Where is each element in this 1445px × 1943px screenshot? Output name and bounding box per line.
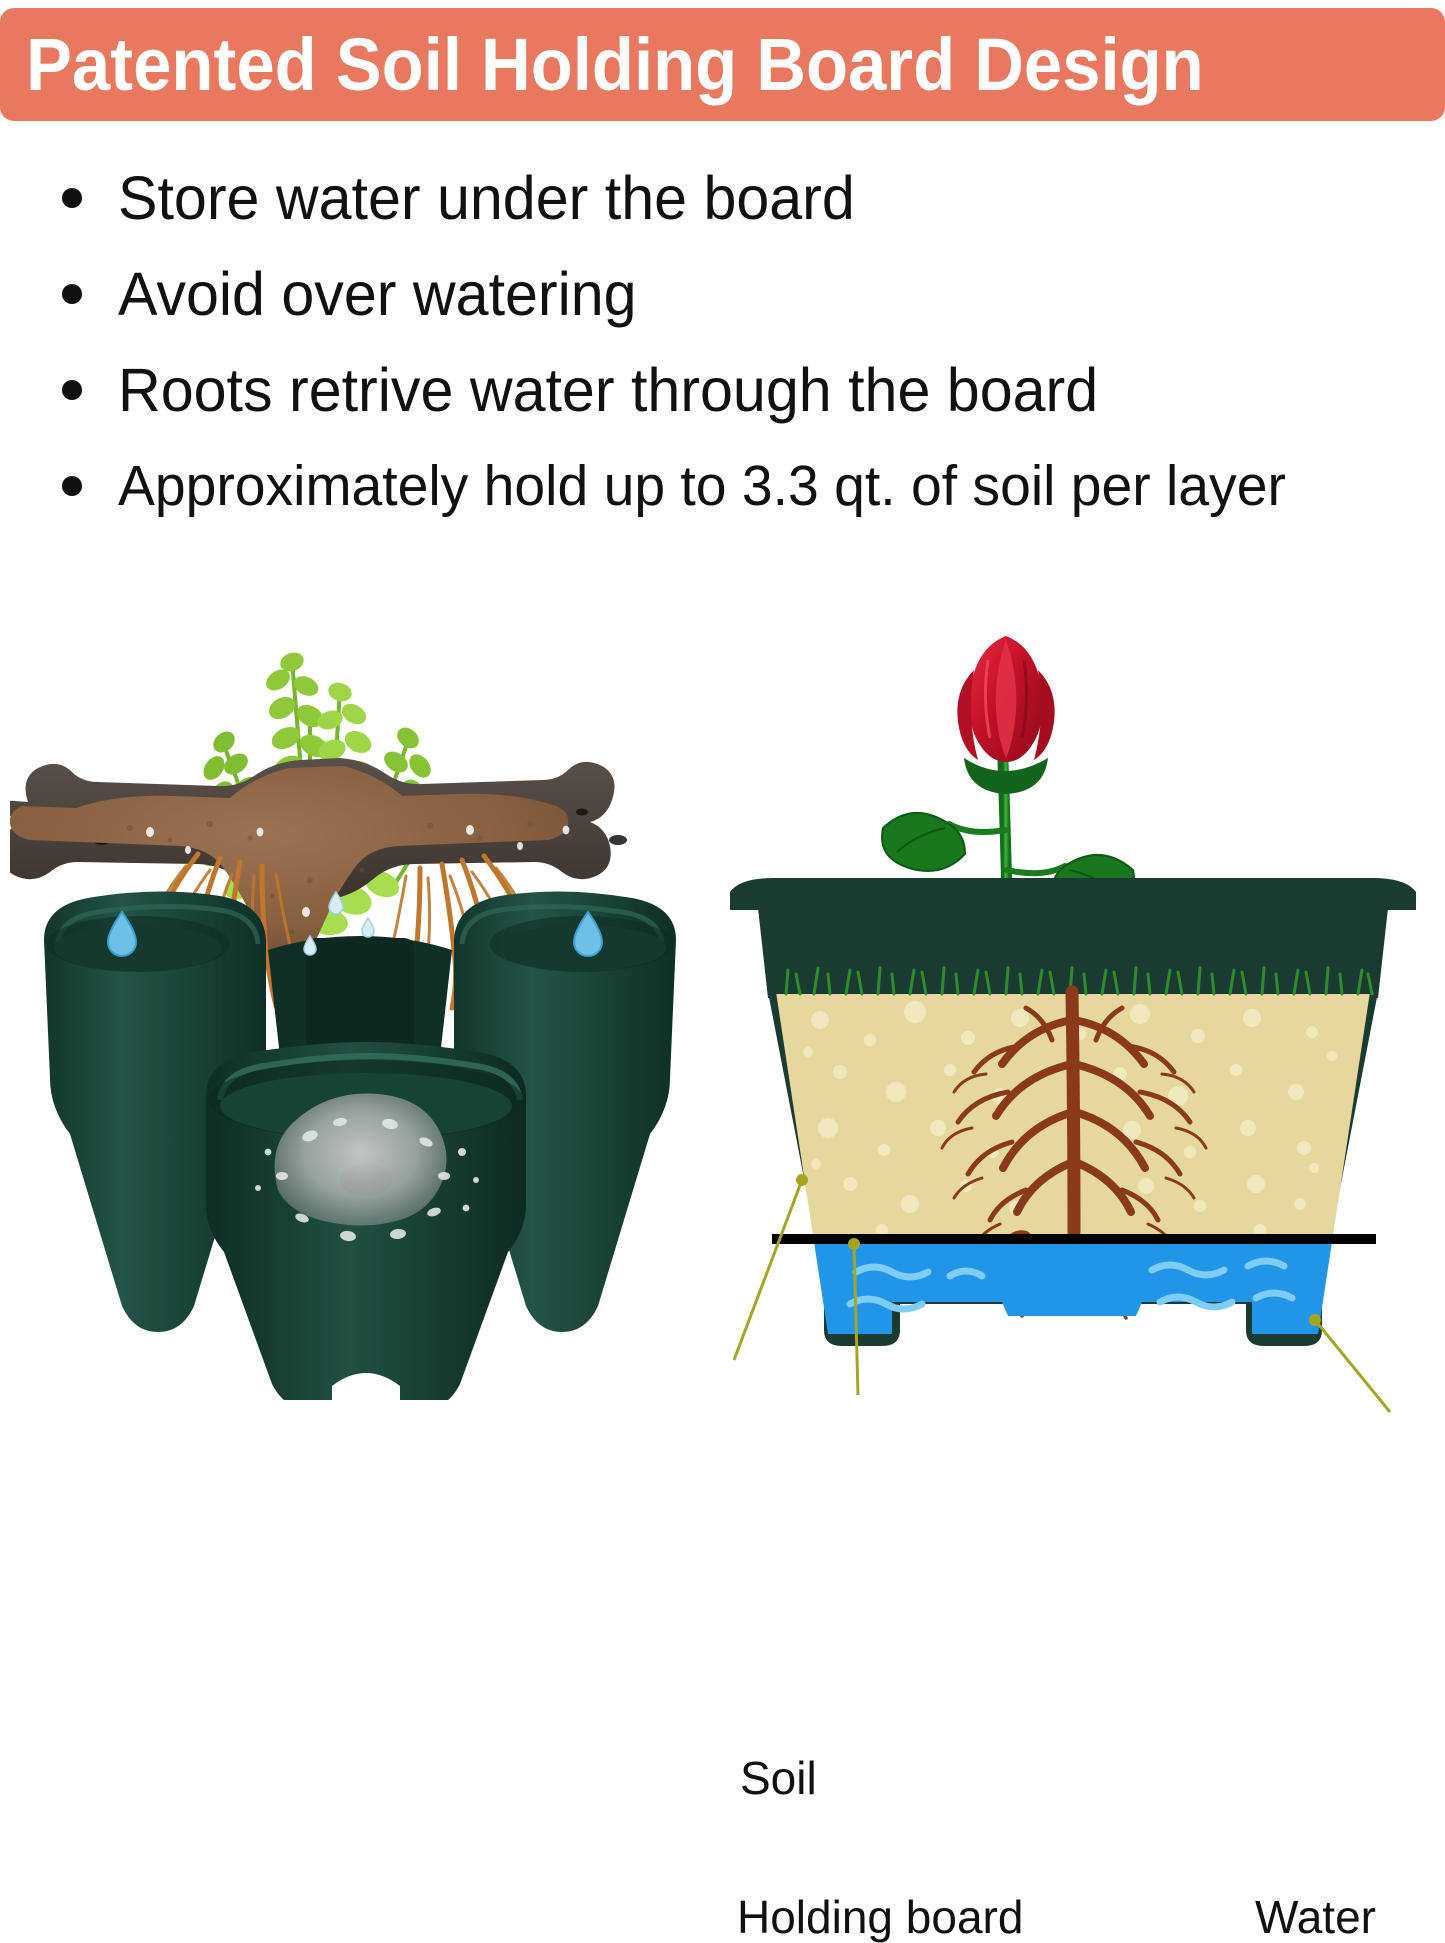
label-holding-board: Holding board xyxy=(737,1892,1023,1942)
bullet-dot-icon xyxy=(62,284,82,304)
stacked-planter-photo xyxy=(10,540,710,1400)
bullet-text: Roots retrive water through the board xyxy=(118,357,1098,423)
list-item: Roots retrive water through the board xyxy=(0,342,1445,438)
bullet-dot-icon xyxy=(62,380,82,400)
infographic-page: Patented Soil Holding Board Design Store… xyxy=(0,0,1445,1413)
bullet-dot-icon xyxy=(62,188,82,208)
bullet-dot-icon xyxy=(62,476,82,496)
header-banner: Patented Soil Holding Board Design xyxy=(0,8,1445,121)
figures-region: Soil Holding board Water xyxy=(0,540,1445,1413)
feature-bullet-list: Store water under the board Avoid over w… xyxy=(0,150,1445,534)
list-item: Store water under the board xyxy=(0,150,1445,246)
bullet-text: Approximately hold up to 3.3 qt. of soil… xyxy=(118,453,1286,519)
list-item: Avoid over watering xyxy=(0,246,1445,342)
label-soil: Soil xyxy=(740,1753,817,1803)
list-item: Approximately hold up to 3.3 qt. of soil… xyxy=(0,438,1445,534)
bullet-text: Store water under the board xyxy=(118,165,855,231)
label-water: Water xyxy=(1255,1892,1376,1942)
rose-bud-icon xyxy=(957,636,1054,762)
page-title: Patented Soil Holding Board Design xyxy=(26,26,1204,104)
planter-cross-section-diagram xyxy=(700,540,1445,1413)
water-reservoir xyxy=(814,1242,1332,1334)
bullet-text: Avoid over watering xyxy=(118,261,637,327)
holding-board-line xyxy=(772,1234,1376,1244)
